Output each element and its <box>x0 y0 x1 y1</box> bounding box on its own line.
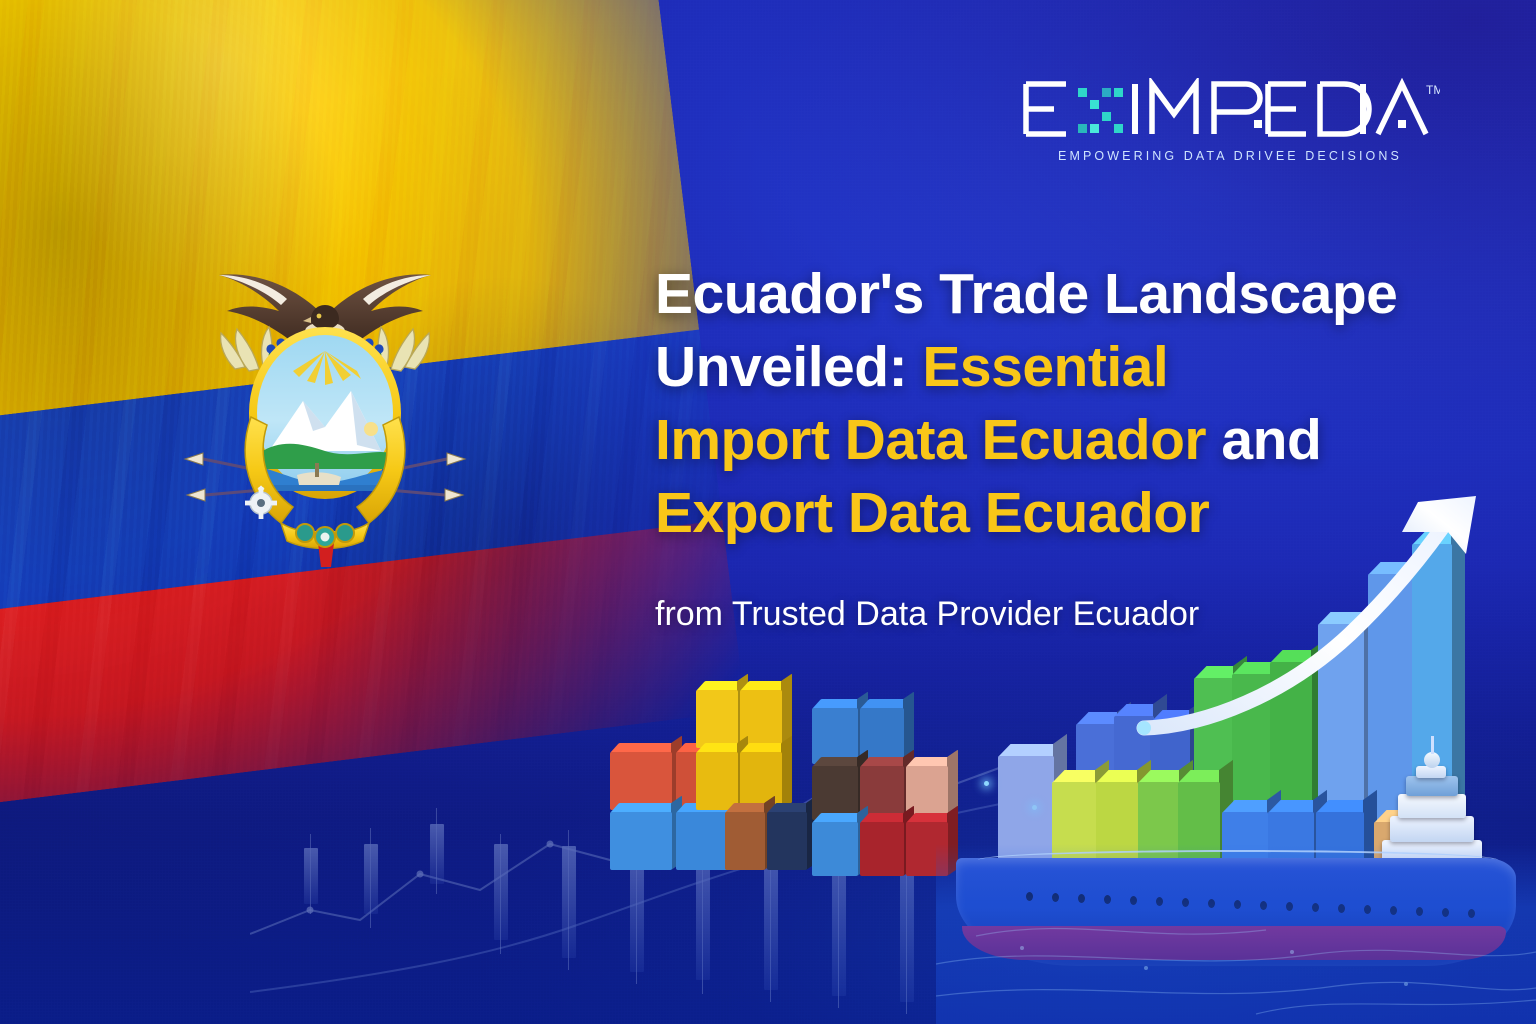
hero-banner: TM EMPOWERING DATA DRIVEE DECISIONS Ecua… <box>0 0 1536 1024</box>
cargo-ship-scene <box>936 544 1536 1024</box>
container-red-base1 <box>860 822 904 876</box>
container-face <box>767 812 807 870</box>
sun-icon <box>364 422 378 436</box>
headline-seg-1a: Ecuador's Trade Landscape <box>655 262 1397 326</box>
x-pixel-glyph <box>1078 88 1123 133</box>
headline-line-1: Ecuador's Trade Landscape <box>655 258 1515 331</box>
container-face <box>696 690 738 748</box>
headline-seg-3b: and <box>1206 408 1321 472</box>
container-face <box>725 812 765 870</box>
headline-seg-2b: Essential <box>922 335 1168 399</box>
headline-seg-2a: Unveiled: <box>655 335 922 399</box>
container-yellow-top1 <box>696 690 738 748</box>
trademark-symbol: TM <box>1426 83 1440 97</box>
container-yellow-mid1 <box>696 752 738 810</box>
container-navy-base <box>767 812 807 870</box>
container-side <box>781 736 792 810</box>
container-face <box>812 822 858 876</box>
container-yellow-mid2 <box>740 752 782 810</box>
sea-network-lines <box>936 544 1536 1024</box>
headline-block: Ecuador's Trade Landscape Unveiled: Esse… <box>655 258 1515 550</box>
container-face <box>696 752 738 810</box>
container-dark-mid <box>812 766 858 820</box>
container-face <box>860 822 904 876</box>
eximpedia-wordmark-svg: TM <box>1020 78 1440 140</box>
container-face <box>812 708 858 764</box>
container-face <box>610 812 672 870</box>
accent-glow-dot-1 <box>984 781 989 786</box>
container-face <box>610 752 672 810</box>
headline-line-2: Unveiled: Essential <box>655 331 1515 404</box>
medallion-right <box>336 524 354 542</box>
container-brown-base <box>725 812 765 870</box>
headline-seg-3a: Import Data Ecuador <box>655 408 1206 472</box>
logo-tagline: EMPOWERING DATA DRIVEE DECISIONS <box>1020 149 1440 163</box>
container-face <box>812 766 858 820</box>
coat-of-arms-svg <box>175 245 475 575</box>
container-face <box>740 752 782 810</box>
ecuador-coat-of-arms <box>175 245 475 575</box>
medallion-left <box>296 524 314 542</box>
container-red-left <box>610 752 672 810</box>
accent-glow-dot-2 <box>1032 805 1037 810</box>
headline-line-3: Import Data Ecuador and <box>655 404 1515 477</box>
container-blue-base1 <box>610 812 672 870</box>
eximpedia-logo[interactable]: TM EMPOWERING DATA DRIVEE DECISIONS <box>1020 78 1440 163</box>
container-blue-top1 <box>812 708 858 764</box>
container-blue-base3 <box>812 822 858 876</box>
